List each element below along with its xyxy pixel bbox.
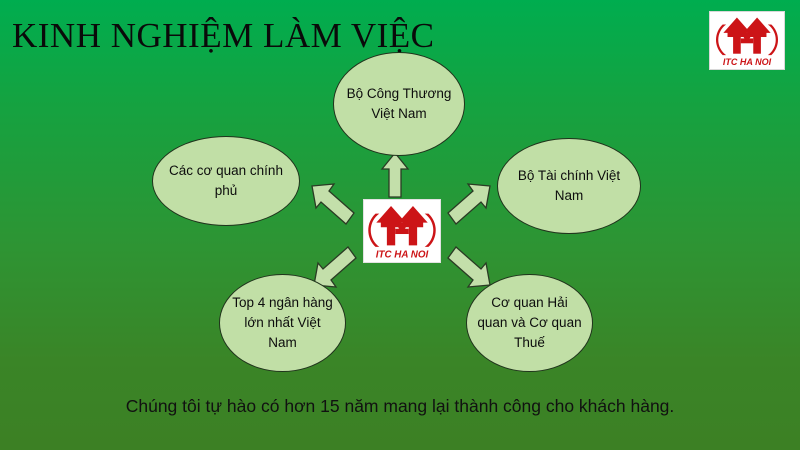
arrow-up-icon [381, 152, 409, 198]
itc-ha-noi-logo-center: ITC HA NOI [363, 199, 441, 263]
itc-ha-noi-logo-icon: ITC HA NOI [364, 200, 440, 262]
logo-wordmark: ITC HA NOI [376, 249, 429, 260]
diagram-node-label: Bộ Công Thương Việt Nam [344, 84, 454, 124]
itc-ha-noi-logo-icon: ITC HA NOI [710, 12, 784, 69]
diagram-node-bottom-left[interactable]: Top 4 ngân hàng lớn nhất Việt Nam [219, 274, 346, 372]
itc-ha-noi-logo-corner: ITC HA NOI [709, 11, 785, 70]
diagram-node-left[interactable]: Các cơ quan chính phủ [152, 136, 300, 226]
arrow-upper-left-icon [310, 182, 356, 226]
arrow-upper-right-icon [446, 182, 492, 226]
slide-caption: Chúng tôi tự hào có hơn 15 năm mang lại … [0, 394, 800, 418]
diagram-node-label: Cơ quan Hải quan và Cơ quan Thuế [477, 293, 582, 353]
diagram-node-label: Top 4 ngân hàng lớn nhất Việt Nam [230, 293, 335, 353]
logo-wordmark: ITC HA NOI [723, 57, 772, 67]
diagram-node-bottom-right[interactable]: Cơ quan Hải quan và Cơ quan Thuế [466, 274, 593, 372]
diagram-node-label: Các cơ quan chính phủ [163, 161, 289, 201]
arrow-lower-right-icon [444, 243, 492, 289]
slide-canvas: KINH NGHIỆM LÀM VIỆC ITC HA NOI [0, 0, 800, 450]
page-title: KINH NGHIỆM LÀM VIỆC [12, 16, 435, 56]
diagram-node-top[interactable]: Bộ Công Thương Việt Nam [333, 52, 465, 156]
diagram-node-right[interactable]: Bộ Tài chính Việt Nam [497, 138, 641, 234]
diagram-node-label: Bộ Tài chính Việt Nam [508, 166, 630, 206]
